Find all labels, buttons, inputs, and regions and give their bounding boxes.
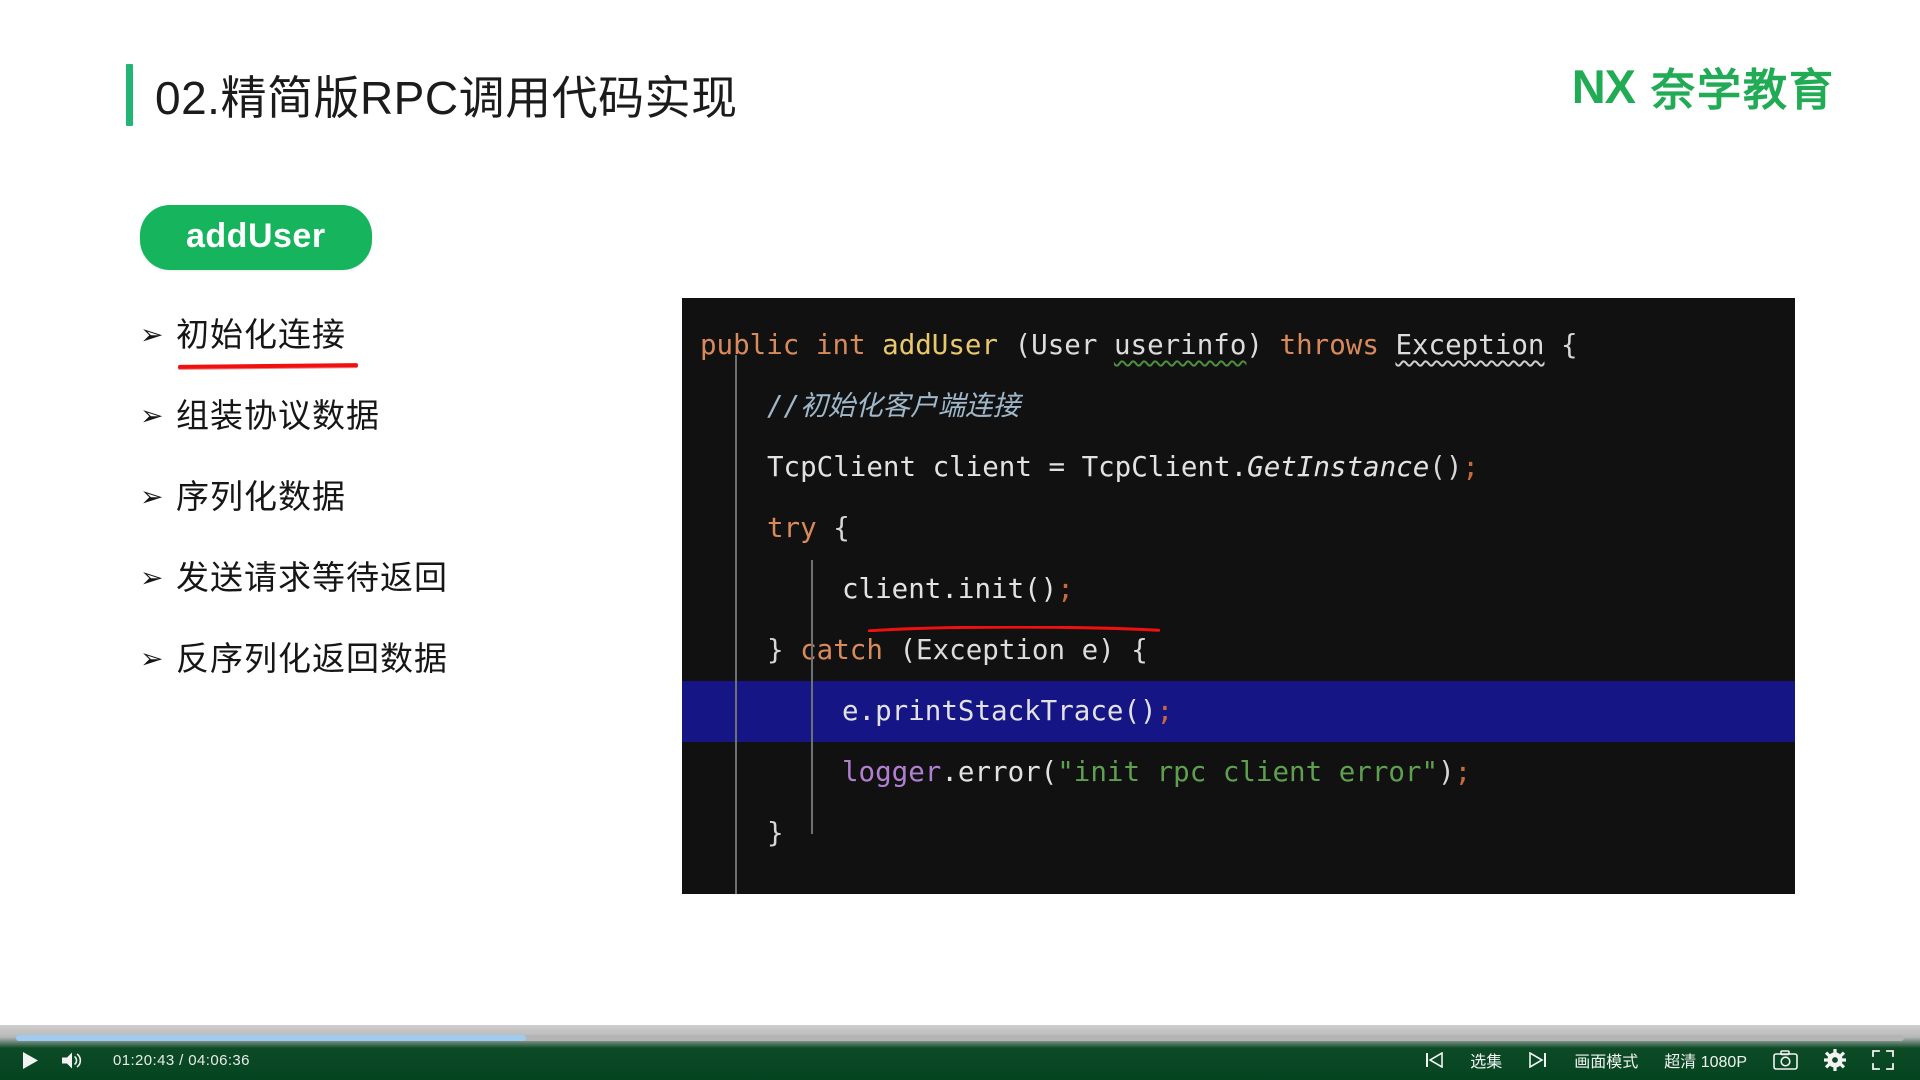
token-semicolon: ;: [1057, 573, 1074, 605]
gear-icon[interactable]: [1824, 1049, 1846, 1071]
code-line-2: //初始化客户端连接: [682, 376, 1795, 437]
quality-button[interactable]: 超清 1080P: [1664, 1048, 1747, 1072]
next-episode-icon[interactable]: [1528, 1052, 1548, 1068]
red-underline-annotation: [868, 626, 1160, 632]
token-keyword-try: try: [767, 512, 817, 544]
token-space: [799, 329, 816, 361]
token-string-literal: "init rpc client error": [1057, 756, 1438, 788]
token-catch-params: (Exception e) {: [883, 634, 1148, 666]
token-space: [866, 329, 883, 361]
indent-guide-level-1: [735, 355, 737, 894]
progress-bar-track[interactable]: [16, 1035, 1904, 1041]
token-close-brace: }: [767, 817, 784, 849]
token-keyword-throws: throws: [1280, 329, 1379, 361]
display-mode-button[interactable]: 画面模式: [1574, 1048, 1638, 1072]
token-call-error: .error(: [941, 756, 1057, 788]
token-comment: //初始化客户端连接: [767, 390, 1020, 422]
token-semicolon: ;: [1462, 451, 1479, 483]
token-close-brace: }: [767, 634, 800, 666]
method-badge: addUser: [140, 205, 372, 270]
logo-name: 奈学教育: [1651, 54, 1835, 118]
token-assignment: TcpClient client = TcpClient.: [767, 451, 1247, 483]
slide-left-column: addUser ➢ 初始化连接 ➢ 组装协议数据 ➢ 序列化数据 ➢ 发送请求等…: [140, 205, 570, 719]
player-controls-left: 01:20:43 / 04:06:36: [22, 1045, 250, 1075]
list-item: ➢ 组装协议数据: [140, 395, 570, 437]
token-close-paren: ): [1438, 756, 1455, 788]
brand-logo: NX 奈学教育: [1572, 54, 1835, 118]
arrow-bullet-icon: ➢: [140, 638, 176, 680]
list-item: ➢ 发送请求等待返回: [140, 557, 570, 599]
code-line-9: }: [682, 803, 1795, 864]
list-item: ➢ 反序列化返回数据: [140, 638, 570, 680]
token-keyword-int: int: [816, 329, 866, 361]
player-controls-right: 选集 画面模式 超清 1080P: [1424, 1045, 1894, 1075]
bullet-label-3: 序列化数据: [176, 476, 346, 518]
token-variable-logger: logger: [842, 756, 941, 788]
bullet-label-1: 初始化连接: [176, 314, 346, 356]
token-space: [1379, 329, 1396, 361]
token-type-exception: Exception: [1395, 329, 1544, 361]
token-params-close: ): [1246, 329, 1279, 361]
token-open-brace: {: [1544, 329, 1577, 361]
indent-guide-level-2-catch: [811, 682, 813, 834]
bullet-label-2: 组装协议数据: [176, 395, 380, 437]
slide-player-root: 02.精简版RPC调用代码实现 NX 奈学教育 addUser ➢ 初始化连接 …: [0, 0, 1920, 1080]
code-line-5: client.init();: [682, 559, 1795, 620]
time-display: 01:20:43 / 04:06:36: [113, 1052, 250, 1069]
token-method-name: addUser: [882, 329, 998, 361]
arrow-bullet-icon: ➢: [140, 476, 176, 518]
token-semicolon: ;: [1455, 756, 1472, 788]
volume-icon[interactable]: [61, 1051, 83, 1070]
list-item: ➢ 初始化连接: [140, 314, 570, 356]
title-accent-bar: [126, 64, 133, 126]
fullscreen-icon[interactable]: [1872, 1050, 1894, 1070]
token-static-method: GetInstance: [1247, 451, 1429, 483]
code-editor-content: public int addUser (User userinfo) throw…: [682, 298, 1795, 894]
camera-icon[interactable]: [1773, 1050, 1798, 1070]
progress-bar-fill[interactable]: [16, 1035, 526, 1041]
token-call-printstacktrace: e.printStackTrace(): [842, 695, 1157, 727]
token-keyword-public: public: [700, 329, 799, 361]
token-open-brace: {: [817, 512, 850, 544]
code-line-7-selected: e.printStackTrace();: [682, 681, 1795, 742]
previous-episode-icon[interactable]: [1424, 1052, 1444, 1068]
code-line-6: } catch (Exception e) {: [682, 620, 1795, 681]
token-parens: (): [1429, 451, 1462, 483]
list-item: ➢ 序列化数据: [140, 476, 570, 518]
play-icon[interactable]: [22, 1051, 39, 1070]
token-semicolon: ;: [1157, 695, 1174, 727]
episodes-button[interactable]: 选集: [1470, 1048, 1502, 1072]
title-text: 02.精简版RPC调用代码实现: [155, 62, 738, 128]
arrow-bullet-icon: ➢: [140, 314, 176, 356]
slide-header: 02.精简版RPC调用代码实现 NX 奈学教育: [0, 0, 1920, 160]
bullet-label-5: 反序列化返回数据: [176, 638, 448, 680]
code-line-3: TcpClient client = TcpClient.GetInstance…: [682, 437, 1795, 498]
bullet-list: ➢ 初始化连接 ➢ 组装协议数据 ➢ 序列化数据 ➢ 发送请求等待返回 ➢ 反序…: [140, 314, 570, 680]
arrow-bullet-icon: ➢: [140, 557, 176, 599]
token-param-userinfo: userinfo: [1114, 329, 1246, 361]
code-screenshot-panel: public int addUser (User userinfo) throw…: [682, 298, 1795, 894]
bullet-label-4: 发送请求等待返回: [176, 557, 448, 599]
page-title: 02.精简版RPC调用代码实现: [126, 62, 738, 128]
code-line-4: try {: [682, 498, 1795, 559]
token-call-client-init: client.init(): [842, 573, 1057, 605]
logo-mark: NX: [1572, 59, 1635, 114]
token-space: [998, 329, 1015, 361]
arrow-bullet-icon: ➢: [140, 395, 176, 437]
video-player-control-bar: 01:20:43 / 04:06:36 选集 画面模式 超清 1080P: [0, 1025, 1920, 1080]
token-params-open: (User: [1015, 329, 1114, 361]
code-line-1: public int addUser (User userinfo) throw…: [682, 315, 1795, 376]
code-line-8: logger.error("init rpc client error");: [682, 742, 1795, 803]
indent-guide-level-2-try: [811, 560, 813, 682]
